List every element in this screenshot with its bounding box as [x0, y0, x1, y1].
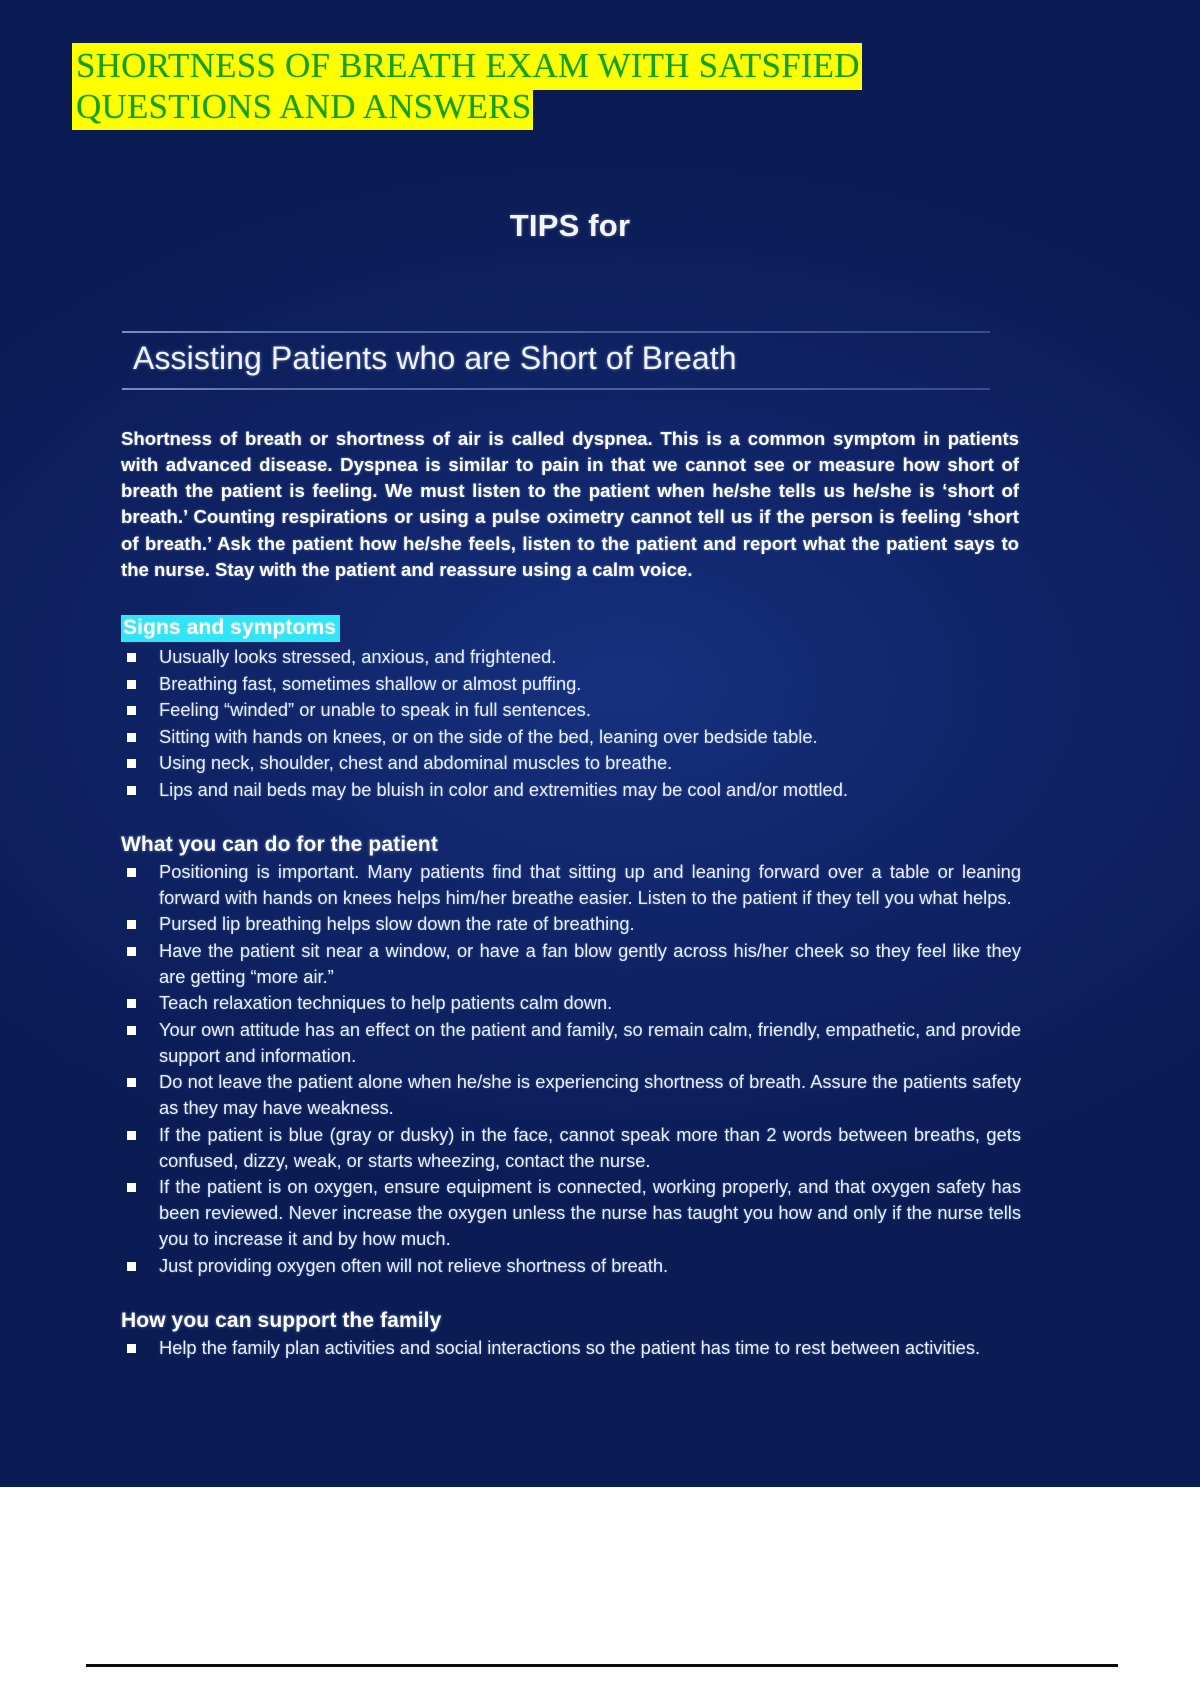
list-item: Just providing oxygen often will not rel… [121, 1253, 1021, 1279]
list-item: Do not leave the patient alone when he/s… [121, 1069, 1021, 1121]
list-item: Pursed lip breathing helps slow down the… [121, 911, 1021, 937]
list-item: If the patient is on oxygen, ensure equi… [121, 1174, 1021, 1252]
footer-divider [86, 1664, 1118, 1667]
slide-body: SHORTNESS OF BREATH EXAM WITH SATSFIED Q… [0, 0, 1200, 1487]
section-heading: How you can support the family [121, 1309, 1021, 1333]
bullet-list: Positioning is important. Many patients … [121, 859, 1021, 1279]
tips-heading: TIPS for [0, 208, 1140, 244]
list-item: Lips and nail beds may be bluish in colo… [121, 777, 1021, 803]
document-title-line-2: QUESTIONS AND ANSWERS [72, 86, 533, 130]
document-page: SHORTNESS OF BREATH EXAM WITH SATSFIED Q… [0, 0, 1200, 1700]
page-subtitle: Assisting Patients who are Short of Brea… [133, 340, 737, 377]
intro-paragraph: Shortness of breath or shortness of air … [121, 426, 1019, 584]
bullet-list: Uusually looks stressed, anxious, and fr… [121, 644, 1021, 803]
list-item: Have the patient sit near a window, or h… [121, 938, 1021, 990]
list-item: Using neck, shoulder, chest and abdomina… [121, 750, 1021, 776]
list-item: Sitting with hands on knees, or on the s… [121, 724, 1021, 750]
document-title: SHORTNESS OF BREATH EXAM WITH SATSFIED Q… [72, 48, 1072, 130]
document-title-line-1: SHORTNESS OF BREATH EXAM WITH SATSFIED [72, 43, 862, 90]
list-item: Your own attitude has an effect on the p… [121, 1017, 1021, 1069]
divider-above-subtitle [122, 331, 990, 333]
page-bottom-whitespace [0, 1487, 1200, 1700]
list-item: Teach relaxation techniques to help pati… [121, 990, 1021, 1016]
content-column: Signs and symptomsUusually looks stresse… [121, 615, 1021, 1361]
list-item: If the patient is blue (gray or dusky) i… [121, 1122, 1021, 1174]
list-item: Help the family plan activities and soci… [121, 1335, 1021, 1361]
section-heading: Signs and symptoms [121, 615, 340, 642]
bullet-list: Help the family plan activities and soci… [121, 1335, 1021, 1361]
list-item: Uusually looks stressed, anxious, and fr… [121, 644, 1021, 670]
divider-below-subtitle [122, 388, 990, 390]
list-item: Feeling “winded” or unable to speak in f… [121, 697, 1021, 723]
section-heading: What you can do for the patient [121, 833, 1021, 857]
list-item: Positioning is important. Many patients … [121, 859, 1021, 911]
list-item: Breathing fast, sometimes shallow or alm… [121, 671, 1021, 697]
